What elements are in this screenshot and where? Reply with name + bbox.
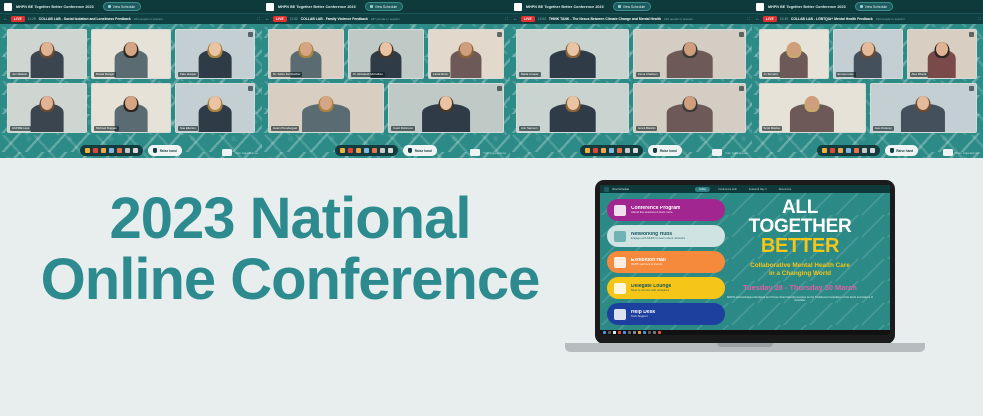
view-schedule-label: View Schedule (865, 5, 887, 9)
video-tile[interactable]: Emma Lowe (833, 29, 903, 79)
globe-icon (614, 231, 626, 242)
participant-face (806, 96, 818, 110)
lobby-menu-item-2[interactable]: Exhibition HallMHPN partners & friends (607, 251, 725, 273)
video-tile[interactable]: Kate Hooper (175, 29, 255, 79)
session-title: THINK TANK - The Nexus Between Climate C… (549, 17, 661, 21)
heart-icon[interactable] (348, 148, 353, 153)
participant-name: Maria Cooper (519, 72, 541, 77)
camera-controls: Turn Appearance (712, 149, 748, 156)
raise-hand-label: Raise hand (415, 149, 432, 153)
mic-muted-icon (248, 86, 253, 91)
participant-face (917, 96, 929, 110)
mhpn-logo-icon (4, 3, 12, 11)
video-tile[interactable]: ASPIRE Host (7, 83, 87, 133)
thumbs-up-icon[interactable] (101, 148, 106, 153)
video-conference-panel-4: MHPN BE Together Better Conference 2023V… (752, 0, 983, 158)
camera-icon[interactable] (470, 149, 480, 156)
clap-icon[interactable] (85, 148, 90, 153)
taskbar-app-icon-11[interactable] (658, 331, 661, 334)
hand-icon (890, 148, 894, 153)
tile-row: Helen PrendergastCarol Robinson (268, 83, 504, 133)
thumbs-up-icon[interactable] (838, 148, 843, 153)
view-schedule-button[interactable]: View Schedule (365, 2, 403, 11)
session-title: COLLAB LAB - Social Isolation and Loneli… (39, 17, 131, 21)
thumbs-up-icon[interactable] (601, 148, 606, 153)
video-tile[interactable]: Helen Prendergast (268, 83, 384, 133)
participant-face (209, 42, 221, 56)
people-icon (614, 283, 626, 294)
participant-name: Jo Tennant (762, 72, 780, 77)
mic-icon[interactable] (125, 148, 130, 153)
video-tile[interactable]: Ann Samson (516, 83, 629, 133)
hero-tagline-line1: Collaborative Mental Health Care (716, 262, 884, 270)
taskbar-app-icon-5[interactable] (628, 331, 631, 334)
participant-name: Daniel Ranger (94, 72, 116, 77)
menu-item-subtitle: Attend live sessions & learn more (631, 211, 680, 214)
participant-face (862, 42, 874, 56)
session-bar: ←LIVE13:45COLLAB LAB - LGBTQIA+ Mental H… (752, 13, 983, 24)
view-schedule-button[interactable]: View Schedule (855, 2, 893, 11)
lobby-menu: Conference ProgramAttend live sessions &… (607, 199, 725, 325)
grid-layout-icon[interactable]: ∷ (978, 16, 980, 22)
session-time: 13:45 (780, 17, 788, 21)
hero-tagline-line2: in a Changing World (716, 270, 884, 278)
thumbs-up-icon[interactable] (356, 148, 361, 153)
hero-section: 2023 National Online Conference View Sch… (0, 158, 983, 416)
taskbar-app-icon-8[interactable] (643, 331, 646, 334)
participant-face (567, 96, 579, 110)
raise-hand-label: Raise hand (160, 149, 177, 153)
participant-face (567, 42, 579, 56)
participant-name: Grant Blashki (636, 126, 657, 131)
panel-topbar: MHPN BE Together Better Conference 2023V… (0, 0, 262, 13)
video-tile[interactable]: Sue Ellerton (175, 83, 255, 133)
video-tile[interactable]: Dr. Sabin Fernbacher (268, 29, 344, 79)
video-tile-grid: Maria CooperFiona CharlsonAnn SamsonGran… (510, 24, 752, 136)
taskbar-app-icon-7[interactable] (638, 331, 641, 334)
live-badge: LIVE (521, 16, 535, 22)
menu-item-subtitle: Meet & connect with delegates (631, 289, 671, 292)
hand-icon (408, 148, 412, 153)
view-schedule-button[interactable]: View Schedule (613, 2, 651, 11)
participant-face (440, 96, 452, 110)
participant-name: Sue Ellerton (178, 126, 198, 131)
participant-face (460, 42, 472, 56)
raise-hand-icon[interactable] (109, 148, 114, 153)
reaction-toolbar (580, 145, 643, 156)
live-badge: LIVE (763, 16, 777, 22)
video-tile[interactable]: Carol Robinson (388, 83, 504, 133)
back-arrow-icon[interactable]: ← (265, 17, 270, 22)
session-time: 12:04 (538, 17, 546, 21)
taskbar-app-icon-3[interactable] (618, 331, 621, 334)
conference-title: MHPN BE Together Better Conference 2023 (768, 5, 846, 9)
raise-hand-button[interactable]: Raise hand (885, 145, 919, 156)
page-title: 2023 National Online Conference (0, 188, 580, 311)
participant-face (209, 96, 221, 110)
video-conference-panel-1: MHPN BE Together Better Conference 2023V… (0, 0, 262, 158)
participant-face (936, 42, 948, 56)
lobby-menu-item-0[interactable]: Conference ProgramAttend live sessions &… (607, 199, 725, 221)
emoji-icon[interactable] (117, 148, 122, 153)
camera-icon[interactable] (133, 148, 138, 153)
nav-tab-1[interactable]: Conference Hub (714, 187, 741, 192)
taskbar-app-icon-10[interactable] (653, 331, 656, 334)
hero-line2: TOGETHER (716, 218, 884, 237)
back-arrow-icon[interactable]: ← (513, 17, 518, 22)
nav-tab-2[interactable]: Featured Day 1 (745, 187, 771, 192)
os-taskbar (600, 330, 890, 335)
live-badge: LIVE (273, 16, 287, 22)
tile-row: Scott MackieJess Delaney (758, 83, 977, 133)
panel-topbar: MHPN BE Together Better Conference 2023V… (510, 0, 752, 13)
session-bar: ←LIVE12:04THINK TANK - The Nexus Between… (510, 13, 752, 24)
reaction-toolbar (335, 145, 398, 156)
participant-name: Carol Robinson (391, 126, 415, 131)
participant-name: Helen Prendergast (271, 126, 299, 131)
view-schedule-label: View Schedule (113, 5, 135, 9)
mic-muted-icon (497, 86, 502, 91)
participant-name: Ann Samson (519, 126, 540, 131)
video-tile[interactable]: Scott Mackie (759, 83, 866, 133)
calendar-icon (614, 205, 626, 216)
store-icon (614, 257, 626, 268)
hand-icon (153, 148, 157, 153)
session-time: 11:25 (28, 17, 36, 21)
tile-row: Jo TennantEmma LoweAlex Rivera (758, 29, 977, 79)
calendar-icon (108, 5, 111, 8)
hero-tagline: Collaborative Mental Health Care in a Ch… (716, 262, 884, 277)
menu-item-subtitle: MHPN partners & friends (631, 263, 666, 266)
video-tile[interactable]: Jo Tennant (759, 29, 829, 79)
lobby-menu-item-1[interactable]: Networking HubsEngage with MHPN to learn… (607, 225, 725, 247)
participant-name: Jen Watson (10, 72, 29, 77)
camera-icon[interactable] (633, 148, 638, 153)
laptop-screen: View Schedule LobbyConference HubFeature… (600, 185, 890, 335)
laptop-view-schedule-button[interactable]: View Schedule (612, 188, 629, 191)
laptop-base (565, 343, 925, 352)
camera-label: Turn Appearance (956, 151, 979, 155)
grid-layout-icon[interactable]: ∷ (747, 16, 749, 22)
emoji-icon[interactable] (854, 148, 859, 153)
camera-controls: Turn Appearance (470, 149, 506, 156)
participant-name: Dr. Elizabeth McCallum (351, 72, 385, 77)
participant-name: Jess Delaney (873, 126, 894, 131)
lobby-menu-item-4[interactable]: Help DeskTech Support (607, 303, 725, 325)
participant-name: Dr. Sabin Fernbacher (271, 72, 302, 77)
emoji-icon[interactable] (617, 148, 622, 153)
camera-controls: Turn Appearance (222, 149, 258, 156)
tile-row: Dr. Sabin FernbacherDr. Elizabeth McCall… (268, 29, 504, 79)
calendar-icon (618, 5, 621, 8)
video-conference-panel-3: MHPN BE Together Better Conference 2023V… (510, 0, 752, 158)
menu-item-text: Conference ProgramAttend live sessions &… (631, 206, 680, 215)
tile-row: Ann SamsonGrant Blashki (516, 83, 746, 133)
heart-icon[interactable] (593, 148, 598, 153)
session-bar: ←LIVE11:32COLLAB LAB - Family Violence F… (262, 13, 510, 24)
session-title: COLLAB LAB - Family Violence Feedback (301, 17, 368, 21)
video-tile[interactable]: Michael Duggan (91, 83, 171, 133)
emoji-icon[interactable] (372, 148, 377, 153)
calendar-icon (860, 5, 863, 8)
participant-name: Michael Duggan (94, 126, 119, 131)
participant-name: Scott Mackie (762, 126, 783, 131)
raise-hand-label: Raise hand (896, 149, 913, 153)
conference-title: MHPN BE Together Better Conference 2023 (526, 5, 604, 9)
view-schedule-button[interactable]: View Schedule (103, 2, 141, 11)
mhpn-logo-icon (514, 3, 522, 11)
camera-icon[interactable] (222, 149, 232, 156)
raise-hand-button[interactable]: Raise hand (403, 145, 437, 156)
participant-name: Emma Lowe (836, 72, 856, 77)
taskbar-app-icon-0[interactable] (603, 331, 606, 334)
taskbar-app-icon-6[interactable] (633, 331, 636, 334)
clap-icon[interactable] (585, 148, 590, 153)
participant-face (125, 42, 137, 56)
camera-icon[interactable] (870, 148, 875, 153)
reaction-toolbar (80, 145, 143, 156)
mic-muted-icon (739, 32, 744, 37)
reaction-toolbar (817, 145, 880, 156)
menu-item-text: Help DeskTech Support (631, 310, 655, 319)
panel-topbar: MHPN BE Together Better Conference 2023V… (262, 0, 510, 13)
nav-tab-0[interactable]: Lobby (695, 187, 710, 192)
participant-face (125, 96, 137, 110)
taskbar-app-icon-4[interactable] (623, 331, 626, 334)
camera-controls: Turn Appearance (943, 149, 979, 156)
hand-icon (653, 148, 657, 153)
laptop-icon (614, 309, 626, 320)
participant-face (41, 42, 53, 56)
tile-row: Maria CooperFiona Charlson (516, 29, 746, 79)
session-title: COLLAB LAB - LGBTQIA+ Mental Health Feed… (791, 17, 873, 21)
live-badge: LIVE (11, 16, 25, 22)
mic-icon[interactable] (862, 148, 867, 153)
participant-face (788, 42, 800, 56)
participant-face (380, 42, 392, 56)
video-tile-grid: Jen WatsonDaniel RangerKate HooperASPIRE… (0, 24, 262, 136)
menu-item-text: Delegate LoungeMeet & connect with deleg… (631, 284, 671, 293)
participant-name: Alex Rivera (910, 72, 929, 77)
participant-count: 264 people in session (134, 17, 163, 21)
video-tile[interactable]: Dr. Elizabeth McCallum (348, 29, 424, 79)
participant-name: Fiona Charlson (636, 72, 660, 77)
back-arrow-icon[interactable]: ← (3, 17, 8, 22)
video-conference-strip: MHPN BE Together Better Conference 2023V… (0, 0, 983, 158)
participant-face (684, 42, 696, 56)
hero-line1: ALL (716, 199, 884, 218)
conference-title: MHPN BE Together Better Conference 2023 (16, 5, 94, 9)
view-schedule-label: View Schedule (623, 5, 645, 9)
video-tile[interactable]: Jen Watson (7, 29, 87, 79)
lobby-menu-item-3[interactable]: Delegate LoungeMeet & connect with deleg… (607, 277, 725, 299)
participant-face (684, 96, 696, 110)
mhpn-logo-icon (266, 3, 274, 11)
video-tile[interactable]: Fiona Charlson (633, 29, 746, 79)
heart-icon[interactable] (830, 148, 835, 153)
mhpn-logo-icon (756, 3, 764, 11)
video-tile[interactable]: Grant Blashki (633, 83, 746, 133)
video-conference-panel-2: MHPN BE Together Better Conference 2023V… (262, 0, 510, 158)
mic-muted-icon (969, 86, 974, 91)
mic-icon[interactable] (380, 148, 385, 153)
camera-icon[interactable] (943, 149, 953, 156)
calendar-icon (370, 5, 373, 8)
tile-row: Jen WatsonDaniel RangerKate Hooper (6, 29, 256, 79)
raise-hand-icon[interactable] (364, 148, 369, 153)
menu-item-subtitle: Engage with MHPN to learn about networks (631, 237, 685, 240)
session-bar: ←LIVE11:25COLLAB LAB - Social Isolation … (0, 13, 262, 24)
grid-layout-icon[interactable]: ∷ (505, 16, 507, 22)
conference-title: MHPN BE Together Better Conference 2023 (278, 5, 356, 9)
acknowledgement-of-country: MHPN acknowledges Aboriginal and Torres … (716, 296, 884, 303)
participant-name: Laura Ross (431, 72, 450, 77)
clap-icon[interactable] (822, 148, 827, 153)
lobby-hero: ALL TOGETHER BETTER Collaborative Mental… (716, 199, 884, 302)
camera-label: Turn Appearance (235, 151, 258, 155)
mic-muted-icon (739, 86, 744, 91)
hero-dates: Tuesday 28 - Thursday 30 March (716, 283, 884, 292)
participant-face (300, 42, 312, 56)
platform-topbar: View Schedule LobbyConference HubFeature… (600, 185, 890, 193)
platform-lobby: Conference ProgramAttend live sessions &… (600, 193, 890, 335)
page-title-line2: Online Conference (0, 249, 580, 310)
platform-logo-icon (604, 187, 609, 192)
grid-layout-icon[interactable]: ∷ (257, 16, 259, 22)
participant-name: Kate Hooper (178, 72, 198, 77)
camera-icon[interactable] (712, 149, 722, 156)
video-tile[interactable]: Laura Ross (428, 29, 504, 79)
participant-name: ASPIRE Host (10, 126, 31, 131)
panel-topbar: MHPN BE Together Better Conference 2023V… (752, 0, 983, 13)
video-tile[interactable]: Jess Delaney (870, 83, 977, 133)
laptop-lid: View Schedule LobbyConference HubFeature… (595, 180, 895, 344)
tile-row: ASPIRE HostMichael DugganSue Ellerton (6, 83, 256, 133)
video-tile-grid: Dr. Sabin FernbacherDr. Elizabeth McCall… (262, 24, 510, 136)
participant-face (320, 96, 332, 110)
heart-icon[interactable] (93, 148, 98, 153)
raise-hand-button[interactable]: Raise hand (648, 145, 682, 156)
back-arrow-icon[interactable]: ← (755, 17, 760, 22)
menu-item-text: Networking HubsEngage with MHPN to learn… (631, 232, 685, 241)
participant-face (41, 96, 53, 110)
taskbar-app-icon-9[interactable] (648, 331, 651, 334)
mic-icon[interactable] (625, 148, 630, 153)
participant-count: 187 people in session (371, 17, 400, 21)
laptop-mockup: View Schedule LobbyConference HubFeature… (565, 180, 925, 352)
video-tile[interactable]: Alex Rivera (907, 29, 977, 79)
raise-hand-button[interactable]: Raise hand (148, 145, 182, 156)
view-schedule-label: View Schedule (375, 5, 397, 9)
platform-nav-tabs: LobbyConference HubFeatured Day 1Resourc… (695, 187, 795, 192)
raise-hand-icon[interactable] (846, 148, 851, 153)
camera-icon[interactable] (388, 148, 393, 153)
camera-label: Turn Appearance (725, 151, 748, 155)
video-tile[interactable]: Maria Cooper (516, 29, 629, 79)
camera-label: Turn Appearance (483, 151, 506, 155)
page-title-line1: 2023 National (0, 188, 580, 249)
video-tile[interactable]: Daniel Ranger (91, 29, 171, 79)
hero-line3: BETTER (716, 236, 884, 256)
nav-tab-3[interactable]: Resources (775, 187, 795, 192)
raise-hand-label: Raise hand (660, 149, 677, 153)
video-tile-grid: Jo TennantEmma LoweAlex RiveraScott Mack… (752, 24, 983, 136)
menu-item-subtitle: Tech Support (631, 315, 655, 318)
clap-icon[interactable] (340, 148, 345, 153)
mic-muted-icon (969, 32, 974, 37)
menu-item-text: Exhibition HallMHPN partners & friends (631, 258, 666, 267)
session-time: 11:32 (290, 17, 298, 21)
taskbar-app-icon-2[interactable] (613, 331, 616, 334)
participant-count: 193 people in session (876, 17, 905, 21)
mic-muted-icon (497, 32, 502, 37)
raise-hand-icon[interactable] (609, 148, 614, 153)
participant-count: 316 people in session (664, 17, 693, 21)
taskbar-app-icon-1[interactable] (608, 331, 611, 334)
mic-muted-icon (248, 32, 253, 37)
